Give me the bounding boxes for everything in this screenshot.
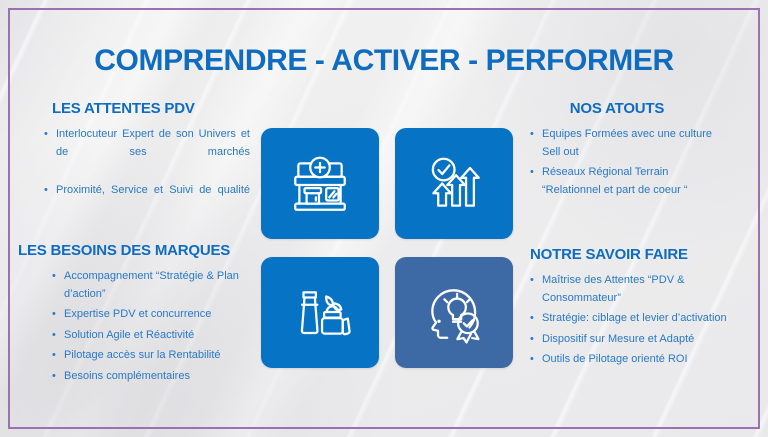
list-item-label: Expertise PDV et concurrence [64,308,211,320]
list-item: • Accompagnement “Stratégie & Plan d’act… [52,268,254,303]
pharmacy-store-icon [287,151,353,217]
list-item-label: Besoins complémentaires [64,370,190,382]
tile-growth-check[interactable] [395,128,513,239]
slide: COMPRENDRE - ACTIVER - PERFORMER LES ATT… [0,0,768,437]
bullet-icon: • [44,126,48,144]
section-attentes-pdv: LES ATTENTES PDV • Interlocuteur Expert … [44,100,250,220]
cosmetic-products-icon [287,280,353,346]
bullet-icon: • [52,327,56,345]
bullet-icon: • [530,351,534,369]
list-item: • Proximité, Service et Suivi de qualité [44,182,250,217]
list-item-label: Dispositif sur Mesure et Adapté [542,333,694,345]
bullet-icon: • [44,182,48,200]
list-item: • Stratégie: ciblage et levier d’activat… [530,310,738,328]
list-item-label: Interlocuteur Expert de son Univers et d… [56,128,250,175]
list-item: • Dispositif sur Mesure et Adapté [530,331,738,349]
icon-tile-grid [261,128,513,380]
tile-pharmacy-store[interactable] [261,128,379,239]
bullet-icon: • [52,347,56,365]
bullet-icon: • [52,368,56,386]
list-item-label: Réseaux Régional Terrain “Relationnel et… [542,166,688,196]
list-item-label: Stratégie: ciblage et levier d’activatio… [542,312,727,324]
section-nos-atouts: NOS ATOUTS • Equipes Formées avec une cu… [530,100,726,202]
list-item-label: Maîtrise des Attentes “PDV & Consommateu… [542,274,684,304]
bullet-list-savoir-faire: • Maîtrise des Attentes “PDV & Consommat… [530,272,738,369]
section-heading-savoir-faire: NOTRE SAVOIR FAIRE [530,246,738,263]
list-item-label: Proximité, Service et Suivi de qualité [56,184,250,214]
list-item: • Expertise PDV et concurrence [52,306,254,324]
list-item: • Outils de Pilotage orienté ROI [530,351,738,369]
bullet-icon: • [530,310,534,328]
list-item: • Pilotage accès sur la Rentabilité [52,347,254,365]
list-item-label: Outils de Pilotage orienté ROI [542,353,688,365]
list-item: • Solution Agile et Réactivité [52,327,254,345]
list-item: • Interlocuteur Expert de son Univers et… [44,126,250,179]
bullet-list-besoins: • Accompagnement “Stratégie & Plan d’act… [18,268,254,385]
bullet-icon: • [530,331,534,349]
growth-arrows-check-icon [421,151,487,217]
bullet-list-atouts: • Equipes Formées avec une culture Sell … [530,126,726,199]
head-idea-award-icon [421,280,487,346]
list-item: • Réseaux Régional Terrain “Relationnel … [530,164,726,199]
list-item-label: Pilotage accès sur la Rentabilité [64,349,221,361]
section-besoins-marques: LES BESOINS DES MARQUES • Accompagnement… [18,242,254,388]
bullet-list-attentes: • Interlocuteur Expert de son Univers et… [44,126,250,217]
list-item: • Maîtrise des Attentes “PDV & Consommat… [530,272,738,307]
section-heading-attentes: LES ATTENTES PDV [44,100,250,117]
tile-cosmetic-products[interactable] [261,257,379,368]
bullet-icon: • [52,268,56,286]
list-item-label: Accompagnement “Stratégie & Plan d’actio… [64,270,239,300]
section-notre-savoir-faire: NOTRE SAVOIR FAIRE • Maîtrise des Attent… [530,246,738,372]
bullet-icon: • [52,306,56,324]
list-item: • Besoins complémentaires [52,368,254,386]
list-item-label: Equipes Formées avec une culture Sell ou… [542,128,712,158]
bullet-icon: • [530,164,534,182]
slide-content: COMPRENDRE - ACTIVER - PERFORMER LES ATT… [0,0,768,437]
tile-head-idea-award[interactable] [395,257,513,368]
bullet-icon: • [530,126,534,144]
page-title: COMPRENDRE - ACTIVER - PERFORMER [0,44,768,78]
section-heading-besoins: LES BESOINS DES MARQUES [18,242,254,259]
bullet-icon: • [530,272,534,290]
section-heading-atouts: NOS ATOUTS [530,100,726,117]
list-item-label: Solution Agile et Réactivité [64,329,194,341]
list-item: • Equipes Formées avec une culture Sell … [530,126,726,161]
